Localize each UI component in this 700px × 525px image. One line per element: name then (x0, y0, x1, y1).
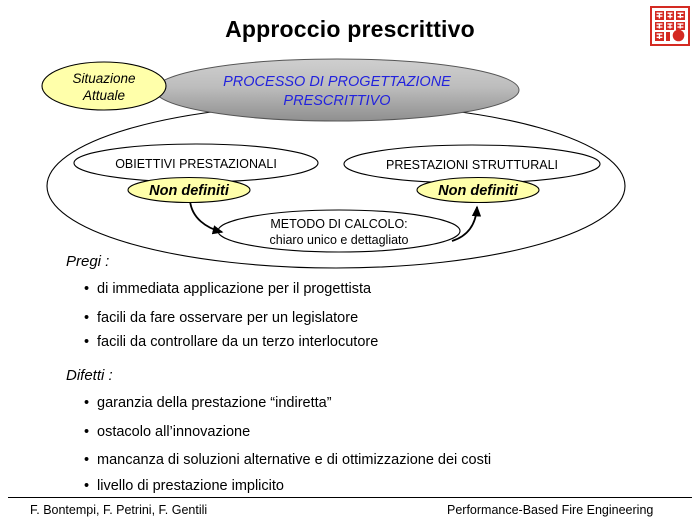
cons-item-label: garanzia della prestazione “indiretta” (97, 395, 332, 411)
pros-item: •facili da controllare da un terzo inter… (84, 334, 378, 350)
process-ellipse-label-line2: PRESCRITTIVO (283, 93, 390, 109)
cons-item: •garanzia della prestazione “indiretta” (84, 395, 332, 411)
structural-performance-label: PRESTAZIONI STRUTTURALI (386, 158, 558, 172)
process-ellipse (155, 59, 519, 121)
pros-item-label: facili da fare osservare per un legislat… (97, 310, 358, 326)
cons-item: •livello di prestazione implicito (84, 478, 284, 494)
bullet-icon: • (84, 452, 97, 468)
calculation-method-label-line2: chiaro unico e dettagliato (270, 233, 409, 247)
bullet-icon: • (84, 395, 97, 411)
objectives-label: OBIETTIVI PRESTAZIONALI (115, 157, 277, 171)
pros-item-label: di immediata applicazione per il progett… (97, 281, 371, 297)
structural-performance-badge-label: Non definiti (438, 183, 519, 199)
bullet-icon: • (84, 478, 97, 494)
current-situation-label-line1: Situazione (72, 71, 135, 86)
current-situation-label-line2: Attuale (82, 88, 125, 103)
footer-authors: F. Bontempi, F. Petrini, F. Gentili (30, 503, 207, 517)
pros-heading: Pregi : (66, 253, 109, 270)
footer-subject: Performance-Based Fire Engineering (447, 503, 653, 517)
cons-item-label: livello di prestazione implicito (97, 478, 284, 494)
bullet-icon: • (84, 310, 97, 326)
calculation-method-label-line1: METODO DI CALCOLO: (270, 217, 407, 231)
cons-item: •ostacolo all’innovazione (84, 424, 250, 440)
cons-item: •mancanza di soluzioni alternative e di … (84, 452, 491, 468)
bullet-icon: • (84, 281, 97, 297)
pros-item-label: facili da controllare da un terzo interl… (97, 334, 378, 350)
prescriptive-process-diagram: PROCESSO DI PROGETTAZIONE PRESCRITTIVO S… (0, 0, 700, 290)
cons-item-label: mancanza di soluzioni alternative e di o… (97, 452, 491, 468)
cons-heading: Difetti : (66, 367, 113, 384)
footer-divider (8, 497, 692, 498)
bullet-icon: • (84, 334, 97, 350)
pros-item: •facili da fare osservare per un legisla… (84, 310, 358, 326)
arrow-objectives-to-method (190, 201, 222, 232)
process-ellipse-label-line1: PROCESSO DI PROGETTAZIONE (223, 74, 451, 90)
bullet-icon: • (84, 424, 97, 440)
pros-item: •di immediata applicazione per il proget… (84, 281, 371, 297)
objectives-badge-label: Non definiti (149, 183, 230, 199)
cons-item-label: ostacolo all’innovazione (97, 424, 250, 440)
